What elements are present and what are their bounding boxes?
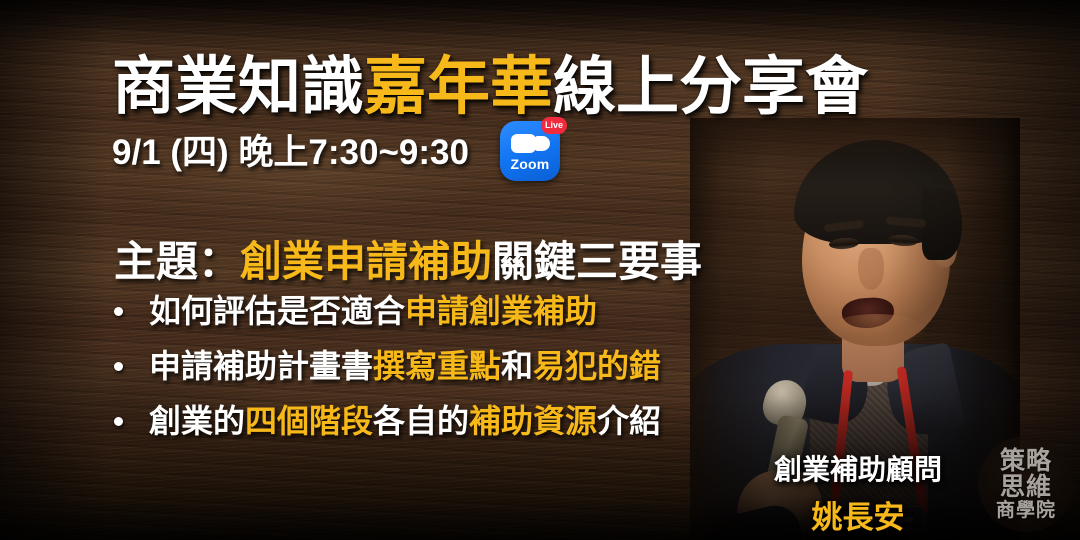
brand-logo-line2: 思維	[1000, 474, 1052, 500]
brand-logo-line3: 商學院	[996, 501, 1056, 521]
topic-tail: 關鍵三要事	[492, 238, 702, 285]
bullet-dot-icon	[114, 307, 123, 316]
bullet-text: 如何評估是否適合申請創業補助	[149, 292, 597, 330]
agenda-list: 如何評估是否適合申請創業補助 申請補助計畫書撰寫重點和易犯的錯 創業的四個階段各…	[114, 292, 734, 457]
bullet-text-highlight: 補助資源	[469, 403, 597, 439]
event-title-part1: 商業知識	[112, 52, 364, 122]
zoom-label: Zoom	[500, 156, 560, 172]
zoom-camera-body-icon	[511, 134, 536, 153]
topic-line: 主題：創業申請補助關鍵三要事	[114, 228, 702, 289]
speaker-caption: 創業補助顧問 姚長安	[718, 448, 998, 537]
list-item: 如何評估是否適合申請創業補助	[114, 292, 734, 347]
zoom-icon[interactable]: Zoom Live	[500, 121, 560, 181]
bullet-text-plain: 創業的	[149, 403, 245, 439]
bullet-dot-icon	[114, 417, 123, 426]
event-title: 商業知識嘉年華線上分享會	[112, 36, 868, 127]
brand-logo-line1: 策略	[1000, 448, 1052, 474]
bullet-text-highlight: 撰寫重點	[373, 348, 501, 384]
bullet-dot-icon	[114, 362, 123, 371]
speaker-name: 姚長安	[718, 492, 998, 537]
bullet-text-plain: 介紹	[597, 403, 661, 439]
bullet-text-highlight: 易犯的錯	[533, 348, 661, 384]
event-title-highlight: 嘉年華	[364, 52, 553, 122]
brand-logo: 策略 思維 商學院	[978, 436, 1074, 532]
event-datetime: 9/1 (四) 晚上7:30~9:30	[112, 124, 469, 175]
promo-banner: 商業知識嘉年華線上分享會 9/1 (四) 晚上7:30~9:30 Zoom Li…	[0, 0, 1080, 540]
speaker-role: 創業補助顧問	[718, 448, 998, 488]
bullet-text-highlight: 申請創業補助	[405, 293, 597, 329]
zoom-camera-lens-icon	[535, 136, 550, 151]
topic-label: 主題：	[114, 238, 240, 285]
list-item: 申請補助計畫書撰寫重點和易犯的錯	[114, 347, 734, 402]
bullet-text: 創業的四個階段各自的補助資源介紹	[149, 402, 661, 440]
bullet-text-highlight: 四個階段	[245, 403, 373, 439]
bullet-text-plain: 和	[501, 348, 533, 384]
topic-highlight: 創業申請補助	[240, 238, 492, 285]
bullet-text-plain: 各自的	[373, 403, 469, 439]
event-title-part2: 線上分享會	[553, 52, 868, 122]
bullet-text-plain: 如何評估是否適合	[149, 293, 405, 329]
live-badge: Live	[541, 117, 567, 134]
bullet-text-plain: 申請補助計畫書	[149, 348, 373, 384]
list-item: 創業的四個階段各自的補助資源介紹	[114, 402, 734, 457]
bullet-text: 申請補助計畫書撰寫重點和易犯的錯	[149, 347, 661, 385]
